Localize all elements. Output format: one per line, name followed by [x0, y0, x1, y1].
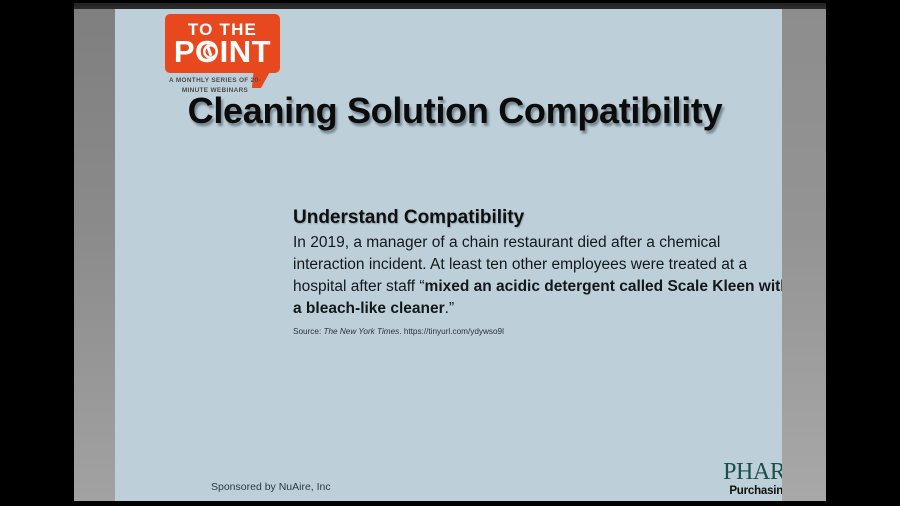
slide-title: Cleaning Solution Compatibility — [175, 89, 735, 132]
paragraph-tail-text: .” — [445, 300, 454, 317]
stage-band-right — [782, 9, 826, 501]
source-label: Source: — [293, 327, 321, 336]
body-paragraph: In 2019, a manager of a chain restaurant… — [293, 232, 782, 320]
presentation-frame: TO THE POINT A MONTHLY SERIES OF 20-MINU… — [74, 3, 826, 501]
source-url[interactable]: https://tinyurl.com/ydywso9l — [404, 327, 504, 336]
source-citation: Source: The New York Times. https://tiny… — [293, 326, 782, 338]
pharmacy-purchasing-products-logo: PHARMACY Purchasing&Products — [722, 459, 782, 499]
pharmacy-logo-word: PHARMACY — [722, 459, 782, 485]
sponsor-note: Sponsored by NuAire, Inc — [211, 480, 331, 494]
target-dot-icon — [203, 44, 218, 59]
slide-body-block: Understand Compatibility In 2019, a mana… — [293, 205, 782, 338]
video-player-frame: TO THE POINT A MONTHLY SERIES OF 20-MINU… — [0, 0, 900, 506]
slide-canvas: TO THE POINT A MONTHLY SERIES OF 20-MINU… — [115, 9, 782, 501]
body-heading: Understand Compatibility — [293, 205, 782, 230]
source-separator: . — [399, 327, 401, 336]
pharmacy-logo-sub-left: Purchasing — [729, 485, 782, 497]
pharmacy-logo-subline: Purchasing&Products — [722, 483, 782, 498]
stage-band-left — [74, 9, 115, 501]
logo-line-bottom: POINT — [165, 35, 280, 69]
logo-bubble: TO THE POINT — [165, 14, 280, 73]
source-publication: The New York Times — [324, 327, 400, 336]
